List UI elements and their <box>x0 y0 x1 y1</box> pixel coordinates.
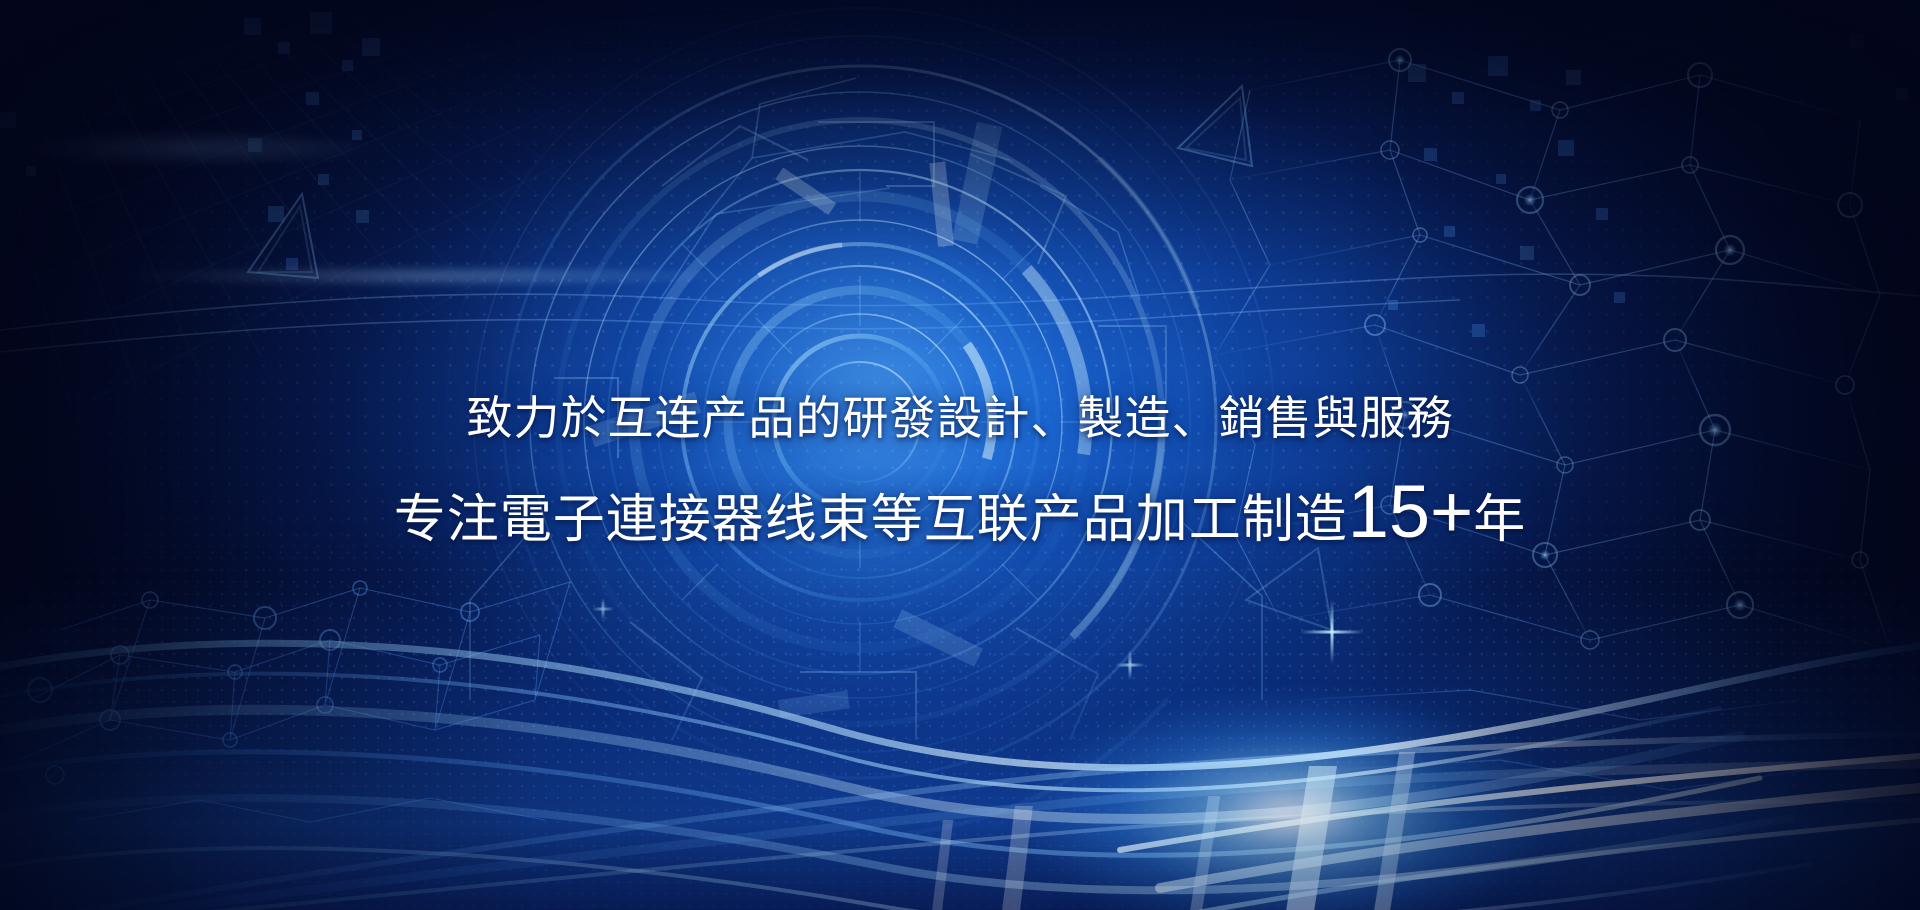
headline-line-2-suffix: 年 <box>1473 494 1526 546</box>
years-count-highlight: 15+ <box>1348 475 1474 549</box>
headline-line-1: 致力於互连产品的研發設計、製造、銷售與服務 <box>467 395 1454 441</box>
hero-copy-block: 致力於互连产品的研發設計、製造、銷售與服務 专注電子連接器线束等互联产品加工制造… <box>0 0 1920 910</box>
headline-line-2: 专注電子連接器线束等互联产品加工制造15+年 <box>394 475 1527 549</box>
hero-banner: 致力於互连产品的研發設計、製造、銷售與服務 专注電子連接器线束等互联产品加工制造… <box>0 0 1920 910</box>
headline-line-2-prefix: 专注電子連接器线束等互联产品加工制造 <box>394 494 1348 546</box>
